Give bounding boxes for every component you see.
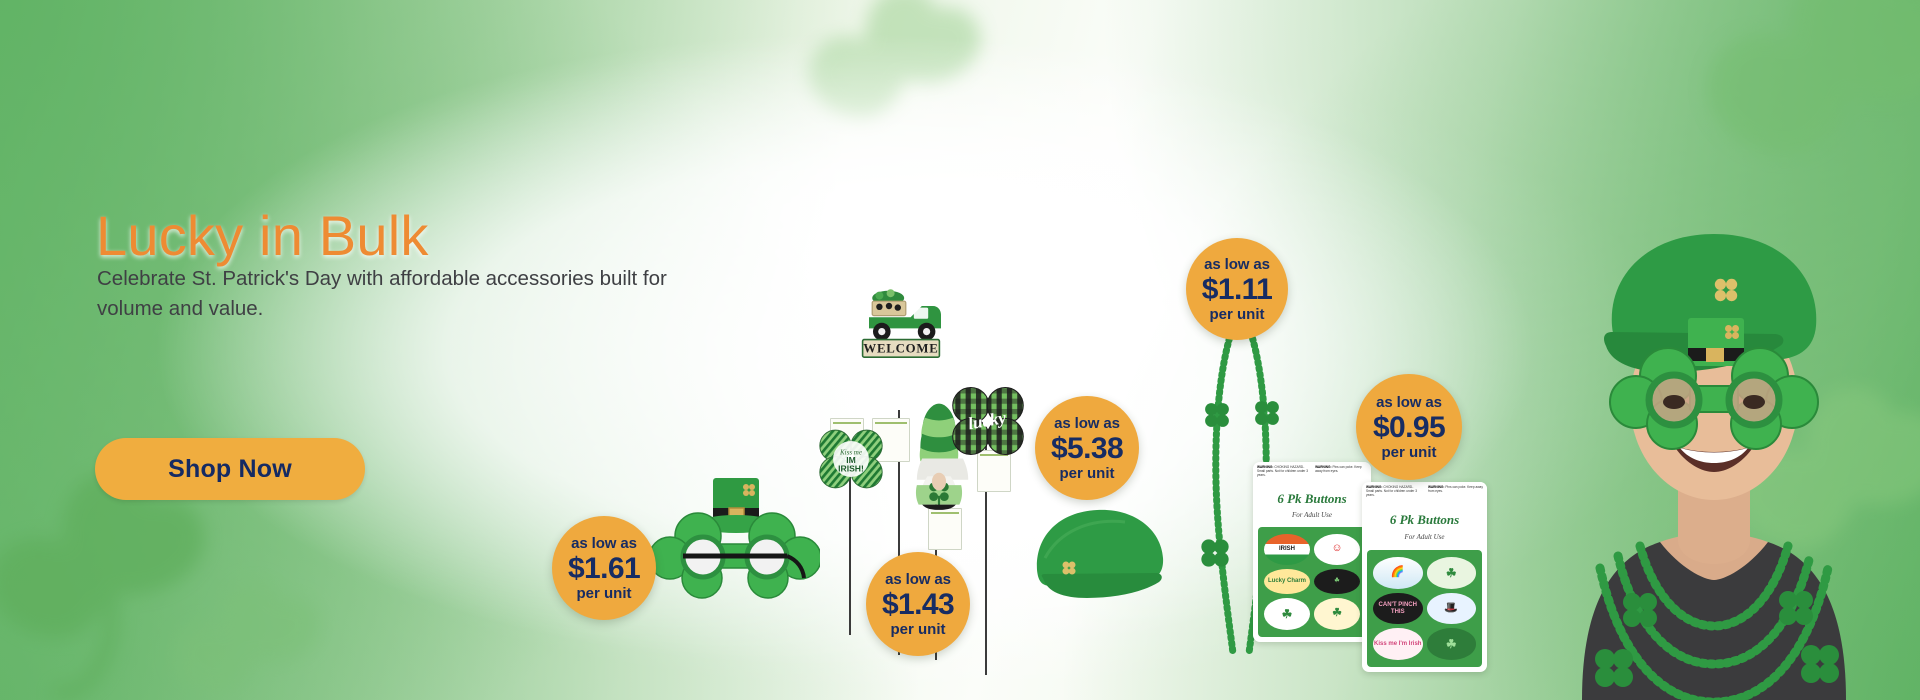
pack-subtitle: For Adult Use: [1253, 511, 1371, 519]
st-patricks-promo-banner: Lucky in Bulk Celebrate St. Patrick's Da…: [0, 0, 1920, 700]
shop-now-button[interactable]: Shop Now: [95, 438, 365, 500]
badge-price: $1.11: [1202, 275, 1272, 305]
price-badge-0-95: as low as $0.95 per unit: [1356, 374, 1462, 480]
model-photo: [1490, 140, 1920, 700]
product-hangtag: [928, 508, 962, 550]
pack-subtitle: For Adult Use: [1362, 533, 1487, 541]
pin-badge: 🎩: [1427, 593, 1477, 625]
svg-text:WELCOME: WELCOME: [863, 341, 938, 355]
warning-text: WARNING: Pins can poke. Keep away from e…: [1428, 485, 1483, 493]
badge-price: $5.38: [1051, 434, 1123, 464]
badge-bottom-label: per unit: [1210, 307, 1265, 322]
price-badge-1-61: as low as $1.61 per unit: [552, 516, 656, 620]
badge-bottom-label: per unit: [891, 622, 946, 637]
badge-top-label: as low as: [571, 536, 637, 551]
badge-top-label: as low as: [1376, 395, 1442, 410]
pack-button-grid: IRISH ☺ Lucky Charm ☘ ☘ ☘: [1258, 527, 1366, 637]
pin-badge: Lucky Charm: [1264, 569, 1310, 595]
kiss-me-im-irish-shamrock-stake: Kiss me IM IRISH!: [812, 420, 890, 498]
badge-bottom-label: per unit: [577, 586, 632, 601]
badge-price: $1.61: [568, 554, 640, 584]
shamrock-glasses-with-hat: [650, 470, 820, 615]
warning-text: WARNING: Pins can poke. Keep away from e…: [1315, 465, 1367, 473]
pin-badge: CAN'T PINCH THIS: [1373, 593, 1423, 625]
badge-top-label: as low as: [1054, 416, 1120, 431]
button-pack-right: WARNING: CHOKING HAZARD-Small parts. Not…: [1362, 482, 1487, 672]
badge-top-label: as low as: [885, 572, 951, 587]
pack-button-grid: 🌈 ☘ CAN'T PINCH THIS 🎩 Kiss me I'm Irish…: [1367, 550, 1482, 667]
price-badge-1-11: as low as $1.11 per unit: [1186, 238, 1288, 340]
green-flat-cap: [1025, 498, 1175, 616]
pin-badge: ☘: [1427, 628, 1477, 660]
warning-text: WARNING: CHOKING HAZARD-Small parts. Not…: [1257, 465, 1309, 477]
badge-top-label: as low as: [1204, 257, 1270, 272]
pin-badge: ☘: [1427, 557, 1477, 589]
badge-bottom-label: per unit: [1382, 445, 1437, 460]
warning-text: WARNING: CHOKING HAZARD-Small parts. Not…: [1366, 485, 1421, 497]
lucky-plaid-shamrock-stake: lucky: [945, 378, 1031, 464]
pack-title: 6 Pk Buttons: [1253, 491, 1371, 507]
svg-text:IRISH!: IRISH!: [838, 463, 864, 473]
pin-badge: ☘: [1314, 598, 1360, 630]
pin-badge: IRISH: [1264, 534, 1310, 565]
badge-bottom-label: per unit: [1060, 466, 1115, 481]
green-truck-icon: [869, 289, 941, 340]
pin-badge: Kiss me I'm Irish: [1373, 628, 1423, 660]
pin-badge: 🌈: [1373, 557, 1423, 589]
pin-badge: ☘: [1314, 569, 1360, 595]
welcome-truck-stake: WELCOME: [853, 280, 949, 372]
flat-cap-icon: [1037, 510, 1163, 598]
button-pack-left: WARNING: CHOKING HAZARD-Small parts. Not…: [1253, 462, 1371, 642]
pack-title: 6 Pk Buttons: [1362, 512, 1487, 528]
badge-price: $0.95: [1373, 413, 1445, 443]
pin-badge: ☺: [1314, 534, 1360, 565]
page-title: Lucky in Bulk: [96, 208, 429, 264]
price-badge-5-38: as low as $5.38 per unit: [1035, 396, 1139, 500]
subheadline: Celebrate St. Patrick's Day with afforda…: [97, 264, 697, 323]
price-badge-1-43: as low as $1.43 per unit: [866, 552, 970, 656]
badge-price: $1.43: [882, 590, 954, 620]
pin-badge: ☘: [1264, 598, 1310, 630]
